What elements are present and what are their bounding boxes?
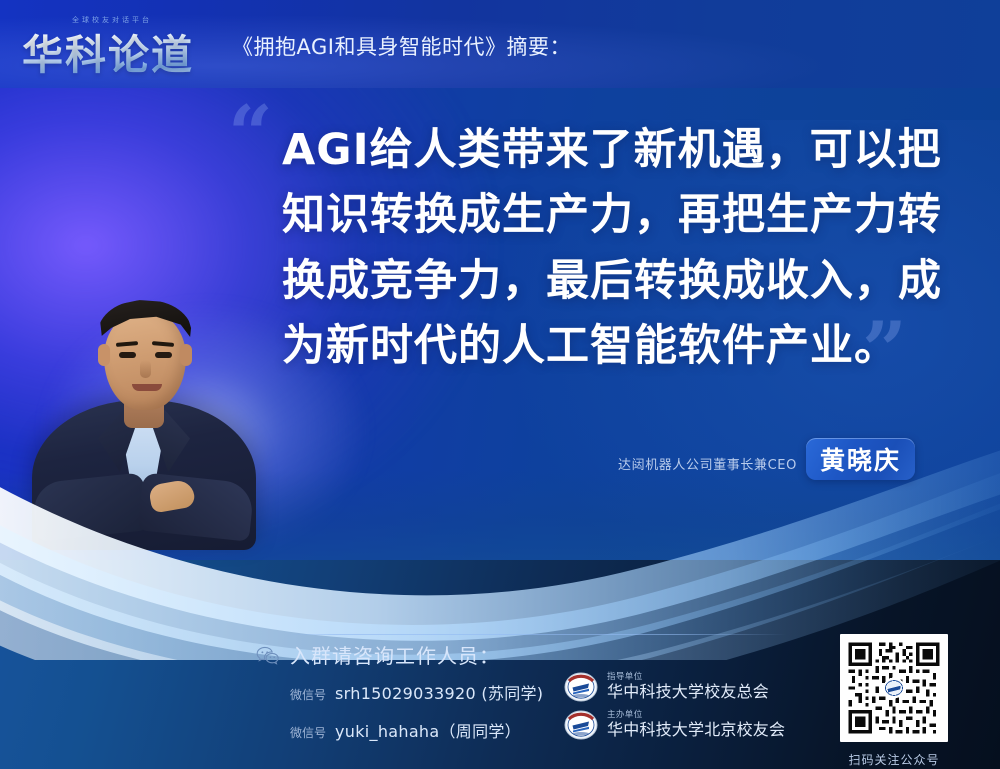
section-divider — [286, 634, 786, 635]
organization-text: 指导单位 华中科技大学校友总会 — [607, 672, 769, 702]
portrait-ear-left — [98, 344, 110, 366]
portrait-nose — [140, 360, 151, 378]
portrait-ear-right — [180, 344, 192, 366]
quote-line: 换成竞争力，最后转换成收入，成 — [282, 249, 942, 314]
portrait-eye-right — [155, 352, 172, 358]
speaker-name-badge: 黄晓庆 — [806, 438, 915, 480]
organization-row: 指导单位 华中科技大学校友总会 — [564, 672, 769, 702]
header-bar: 全球校友对话平台 华科论道 《拥抱AGI和具身智能时代》摘要： — [0, 0, 1000, 88]
brand-logo[interactable]: 全球校友对话平台 华科论道 — [22, 13, 212, 75]
portrait-mouth — [132, 384, 162, 391]
quote-open-mark: “ — [228, 96, 273, 174]
quote-line: AGI给人类带来了新机遇，可以把 — [282, 118, 942, 183]
organization-kind: 主办单位 — [607, 710, 785, 720]
portrait-eye-left — [119, 352, 136, 358]
hust-seal-icon — [564, 672, 598, 702]
speaker-role: 达闼机器人公司董事长兼CEO — [618, 454, 797, 473]
contact-title: 入群请咨询工作人员： — [290, 640, 500, 669]
wechat-label: 微信号 — [290, 724, 326, 741]
quote-line: 为新时代的人工智能软件产业。 — [282, 314, 942, 379]
poster-root: 全球校友对话平台 华科论道 《拥抱AGI和具身智能时代》摘要： “ ” AGI给… — [0, 0, 1000, 769]
organization-row: 主办单位 华中科技大学北京校友会 — [564, 710, 785, 740]
wechat-contact-row[interactable]: 微信号 yuki_hahaha（周同学） — [290, 718, 521, 742]
attribution: 达闼机器人公司董事长兼CEO — [618, 448, 797, 478]
qr-block[interactable]: 扫码关注公众号 — [840, 634, 948, 768]
organization-name: 华中科技大学校友总会 — [607, 682, 769, 702]
qr-code-icon[interactable] — [840, 634, 948, 742]
quote-line: 知识转换成生产力，再把生产力转 — [282, 183, 942, 248]
wechat-icon — [256, 646, 280, 666]
organization-name: 华中科技大学北京校友会 — [607, 720, 785, 740]
quote-text: AGI给人类带来了新机遇，可以把 知识转换成生产力，再把生产力转 换成竞争力，最… — [282, 118, 942, 379]
organization-kind: 指导单位 — [607, 672, 769, 682]
wechat-id: yuki_hahaha（周同学） — [335, 718, 521, 742]
hust-seal-icon — [564, 710, 598, 740]
page-title: 《拥抱AGI和具身智能时代》摘要： — [232, 31, 571, 61]
wechat-label: 微信号 — [290, 686, 326, 703]
logo-wordmark: 华科论道 — [22, 21, 194, 81]
wechat-id: srh15029033920 (苏同学) — [335, 680, 543, 704]
qr-caption: 扫码关注公众号 — [840, 751, 948, 768]
wechat-contact-row[interactable]: 微信号 srh15029033920 (苏同学) — [290, 680, 543, 704]
organization-text: 主办单位 华中科技大学北京校友会 — [607, 710, 785, 740]
